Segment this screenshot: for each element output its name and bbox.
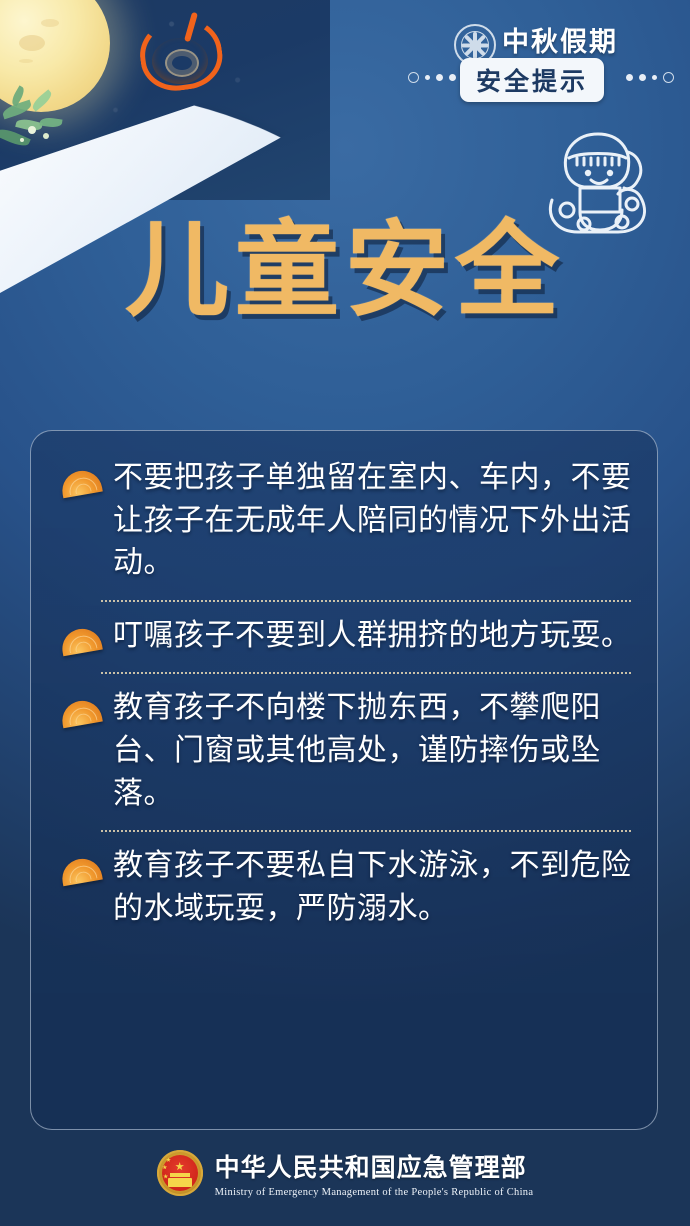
poster-root: 中秋假期 安全提示 儿童安全 <box>0 0 690 1226</box>
decorative-dots-right <box>626 72 674 83</box>
dot-icon <box>626 74 633 81</box>
osmanthus-leaves-icon <box>39 117 62 129</box>
decorative-dots-left <box>408 72 456 83</box>
footer-org-en: Ministry of Emergency Management of the … <box>215 1187 534 1198</box>
list-item: 不要把孩子单独留在室内、车内，不要让孩子在无成年人陪同的情况下外出活动。 <box>49 457 639 585</box>
separator <box>101 672 631 674</box>
half-mooncake-bullet-icon <box>59 468 103 499</box>
national-emblem-icon <box>157 1150 203 1196</box>
list-item: 叮嘱孩子不要到人群拥挤的地方玩耍。 <box>49 615 639 658</box>
page-title: 儿童安全 <box>0 218 690 322</box>
separator <box>101 600 631 602</box>
header-safety-tip-pill: 安全提示 <box>460 58 604 102</box>
footer-text: 中华人民共和国应急管理部 Ministry of Emergency Manag… <box>215 1148 534 1198</box>
blossom-icon <box>28 126 36 134</box>
footer: 中华人民共和国应急管理部 Ministry of Emergency Manag… <box>0 1148 690 1198</box>
half-mooncake-bullet-icon <box>59 698 103 729</box>
separator <box>101 830 631 832</box>
header-title-line1: 中秋假期 <box>502 20 618 59</box>
list-item: 教育孩子不向楼下抛东西，不攀爬阳台、门窗或其他高处，谨防摔伤或坠落。 <box>49 687 639 815</box>
tip-text: 不要把孩子单独留在室内、车内，不要让孩子在无成年人陪同的情况下外出活动。 <box>113 457 639 585</box>
tips-card: 不要把孩子单独留在室内、车内，不要让孩子在无成年人陪同的情况下外出活动。 叮嘱孩… <box>30 430 658 1130</box>
tip-text: 教育孩子不向楼下抛东西，不攀爬阳台、门窗或其他高处，谨防摔伤或坠落。 <box>113 687 639 815</box>
half-mooncake-bullet-icon <box>59 625 103 656</box>
dot-icon <box>436 74 443 81</box>
dot-icon <box>449 74 456 81</box>
tip-text: 教育孩子不要私自下水游泳，不到危险的水域玩耍，严防溺水。 <box>113 845 639 930</box>
dot-icon <box>652 75 657 80</box>
dot-icon <box>408 72 419 83</box>
half-mooncake-bullet-icon <box>59 856 103 887</box>
tip-text: 叮嘱孩子不要到人群拥挤的地方玩耍。 <box>113 615 639 658</box>
footer-org-cn: 中华人民共和国应急管理部 <box>215 1148 534 1184</box>
dot-icon <box>425 75 430 80</box>
dot-icon <box>639 74 646 81</box>
list-item: 教育孩子不要私自下水游泳，不到危险的水域玩耍，严防溺水。 <box>49 845 639 930</box>
header-badge: 中秋假期 安全提示 <box>398 14 680 98</box>
dot-icon <box>663 72 674 83</box>
mooncake-with-ribbon-icon <box>152 38 208 84</box>
